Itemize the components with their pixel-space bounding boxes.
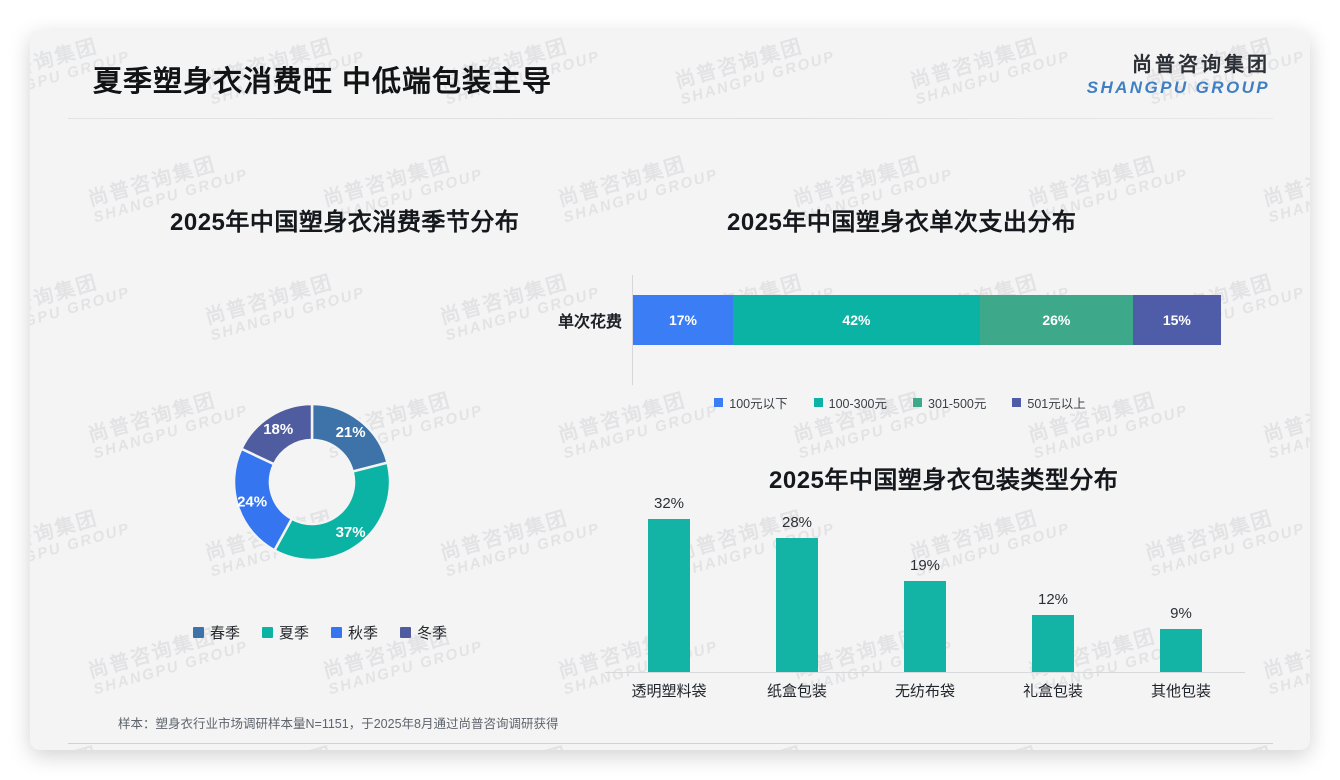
bar-value-label: 28%: [782, 514, 812, 531]
watermark-text: 尚普咨询集团SHANGPU GROUP: [203, 265, 367, 344]
header-divider: [68, 118, 1273, 119]
donut-slice-value: 18%: [263, 421, 293, 438]
legend-label: 100元以下: [729, 393, 787, 412]
legend-label: 100-300元: [829, 393, 887, 412]
season-donut-chart: 21%37%24%18%: [150, 370, 480, 600]
legend-swatch: [714, 398, 723, 407]
watermark-text: 尚普咨询集团SHANGPU GROUP: [1261, 147, 1310, 226]
watermark-text: 尚普咨询集团SHANGPU GROUP: [30, 265, 132, 344]
legend-swatch: [400, 627, 411, 638]
watermark-text: 尚普咨询集团SHANGPU GROUP: [1261, 619, 1310, 698]
bar-baseline-axis: [605, 672, 1245, 673]
bar-value-label: 19%: [910, 557, 940, 574]
bar-category-label: 无纺布袋: [861, 680, 989, 701]
stacked-bar-legend: 100元以下100-300元301-500元501元以上: [530, 393, 1270, 412]
packaging-bar-chart: 32%28%19%12%9% 透明塑料袋纸盒包装无纺布袋礼盒包装其他包装: [575, 500, 1265, 715]
donut-legend-item[interactable]: 春季: [193, 622, 240, 643]
bar-rect[interactable]: [1160, 629, 1202, 672]
stacked-legend-item[interactable]: 100-300元: [814, 393, 887, 412]
legend-swatch: [1012, 398, 1021, 407]
legend-swatch: [814, 398, 823, 407]
bar-column[interactable]: 28%: [733, 500, 861, 672]
bar-column[interactable]: 12%: [989, 500, 1117, 672]
spend-stacked-bar-chart: 单次花费 17%42%26%15%: [530, 270, 1270, 390]
bar-category-label: 透明塑料袋: [605, 680, 733, 701]
bar-category-label: 其他包装: [1117, 680, 1245, 701]
legend-label: 501元以上: [1027, 393, 1085, 412]
bar-columns: 32%28%19%12%9%: [605, 500, 1245, 672]
legend-label: 301-500元: [928, 393, 986, 412]
stacked-bar-segment[interactable]: 26%: [980, 295, 1133, 345]
bar-value-label: 12%: [1038, 591, 1068, 608]
legend-swatch: [331, 627, 342, 638]
bar-rect[interactable]: [776, 538, 818, 672]
stacked-bar-segment-value: 26%: [1042, 312, 1070, 328]
stacked-bar-segment-value: 42%: [842, 312, 870, 328]
stacked-bar-segment[interactable]: 15%: [1133, 295, 1221, 345]
legend-swatch: [913, 398, 922, 407]
donut-slice[interactable]: [274, 463, 390, 560]
legend-label: 冬季: [417, 622, 447, 643]
bar-column[interactable]: 9%: [1117, 500, 1245, 672]
header: 夏季塑身衣消费旺 中低端包装主导 尚普咨询集团 SHANGPU GROUP: [30, 30, 1310, 120]
footer: ©2025.10 SHANGPU GROUP www.shangpu-china…: [30, 748, 1310, 750]
logo-english-text: SHANGPU GROUP: [1087, 78, 1270, 98]
stacked-bar-segment-value: 15%: [1163, 312, 1191, 328]
bar-rect[interactable]: [1032, 615, 1074, 672]
infographic-card: 尚普咨询集团SHANGPU GROUP尚普咨询集团SHANGPU GROUP尚普…: [30, 30, 1310, 750]
packaging-bar-title: 2025年中国塑身衣包装类型分布: [769, 460, 1118, 495]
stacked-bar-title: 2025年中国塑身衣单次支出分布: [727, 202, 1076, 237]
stacked-bar-track: 17%42%26%15%: [633, 295, 1221, 345]
donut-legend-item[interactable]: 冬季: [400, 622, 447, 643]
logo-chinese-text: 尚普咨询集团: [1087, 48, 1270, 77]
bar-column[interactable]: 32%: [605, 500, 733, 672]
donut-chart-title: 2025年中国塑身衣消费季节分布: [170, 202, 519, 237]
bar-rect[interactable]: [648, 519, 690, 672]
bar-column[interactable]: 19%: [861, 500, 989, 672]
stacked-legend-item[interactable]: 301-500元: [913, 393, 986, 412]
stacked-bar-segment[interactable]: 42%: [733, 295, 980, 345]
donut-svg: 21%37%24%18%: [150, 370, 480, 600]
footer-divider: [68, 743, 1273, 744]
donut-slice-value: 21%: [336, 424, 366, 441]
donut-slice-value: 24%: [237, 493, 267, 510]
watermark-text: 尚普咨询集团SHANGPU GROUP: [556, 147, 720, 226]
legend-label: 春季: [210, 622, 240, 643]
legend-swatch: [262, 627, 273, 638]
donut-legend-item[interactable]: 夏季: [262, 622, 309, 643]
bar-value-label: 9%: [1170, 605, 1192, 622]
sample-footnote: 样本：塑身衣行业市场调研样本量N=1151，于2025年8月通过尚普咨询调研获得: [118, 713, 558, 732]
bar-rect[interactable]: [904, 581, 946, 672]
bar-category-label: 纸盒包装: [733, 680, 861, 701]
donut-legend-item[interactable]: 秋季: [331, 622, 378, 643]
stacked-bar-category-label: 单次花费: [530, 308, 622, 332]
bar-value-label: 32%: [654, 495, 684, 512]
bar-category-label: 礼盒包装: [989, 680, 1117, 701]
stacked-bar-segment[interactable]: 17%: [633, 295, 733, 345]
bar-category-labels: 透明塑料袋纸盒包装无纺布袋礼盒包装其他包装: [605, 680, 1245, 701]
legend-swatch: [193, 627, 204, 638]
brand-logo: 尚普咨询集团 SHANGPU GROUP: [1087, 48, 1270, 98]
stacked-legend-item[interactable]: 501元以上: [1012, 393, 1085, 412]
page-title: 夏季塑身衣消费旺 中低端包装主导: [93, 58, 552, 100]
stacked-bar-segment-value: 17%: [669, 312, 697, 328]
stacked-legend-item[interactable]: 100元以下: [714, 393, 787, 412]
legend-label: 夏季: [279, 622, 309, 643]
donut-legend: 春季夏季秋季冬季: [150, 622, 490, 643]
watermark-text: 尚普咨询集团SHANGPU GROUP: [30, 501, 132, 580]
donut-slice-value: 37%: [336, 524, 366, 541]
legend-label: 秋季: [348, 622, 378, 643]
